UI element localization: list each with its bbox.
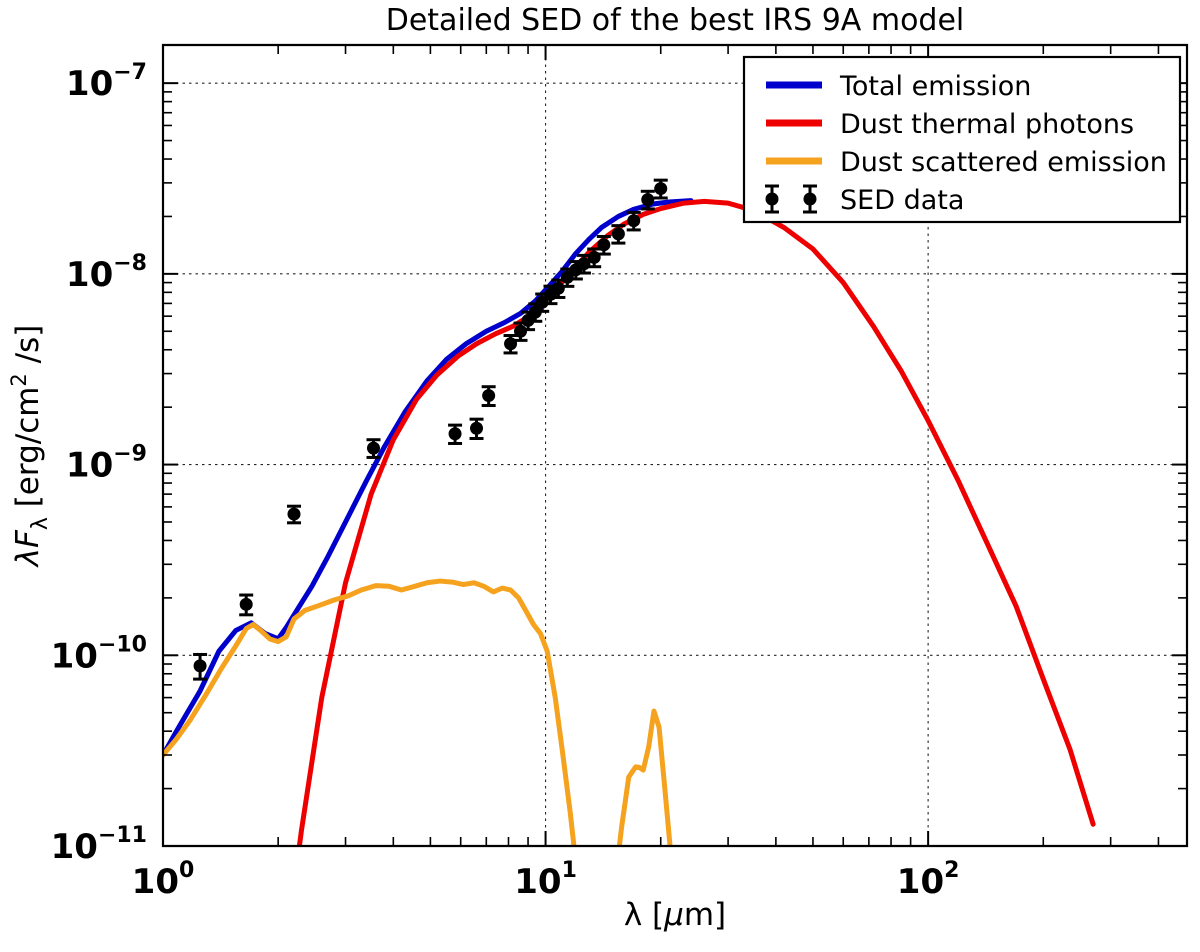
data-marker [367, 442, 380, 455]
ytick-label-1: 10−10 [51, 632, 147, 676]
data-marker [627, 214, 640, 227]
data-marker [641, 193, 654, 206]
data-marker [514, 325, 527, 338]
data-marker [552, 282, 565, 295]
sed-data-point [611, 226, 625, 243]
sed-data-point [482, 387, 496, 406]
legend-label: Total emission [839, 71, 1031, 102]
ytick-label-4: 10−7 [66, 60, 147, 104]
ytick-label-3: 10−8 [66, 251, 147, 295]
sed-data-point [504, 336, 518, 353]
curves-group [163, 201, 1093, 952]
sed-data-point [470, 419, 484, 438]
series-curve-dust-scattered-emission [163, 581, 843, 952]
data-marker [470, 422, 483, 435]
legend-label: Dust scattered emission [840, 147, 1167, 178]
sed-data-point [654, 180, 668, 198]
ytick-label-2: 10−9 [66, 442, 147, 486]
series-curve-total-emission [163, 201, 691, 755]
legend-label: SED data [840, 185, 964, 216]
data-marker [654, 182, 667, 195]
chart-title: Detailed SED of the best IRS 9A model [386, 3, 965, 38]
x-axis-label: λ [μm] [624, 897, 726, 933]
sed-data-points [193, 180, 668, 679]
sed-data-point [287, 506, 301, 523]
sed-data-point [448, 425, 462, 443]
data-marker [597, 238, 610, 251]
data-marker [612, 227, 625, 240]
legend-label: Dust thermal photons [840, 109, 1134, 140]
series-curve-dust-thermal-photons [274, 201, 1093, 952]
y-axis-label: λFλ [erg/cm2 /s] [7, 325, 53, 569]
sed-chart-svg: 10010110210−1110−1010−910−810−7Detailed … [0, 0, 1200, 952]
xtick-label-0: 100 [132, 858, 195, 902]
sed-data-point [597, 237, 611, 255]
sed-figure: 10010110210−1110−1010−910−810−7Detailed … [0, 0, 1200, 952]
xtick-label-1: 101 [514, 858, 577, 902]
data-marker [194, 659, 207, 672]
sed-data-point [239, 595, 253, 615]
legend-marker-0 [766, 193, 779, 206]
xtick-label-2: 102 [897, 858, 960, 902]
data-marker [240, 598, 253, 611]
legend-marker-1 [804, 193, 817, 206]
ytick-label-0: 10−11 [51, 823, 147, 867]
data-marker [449, 427, 462, 440]
legend: Total emissionDust thermal photonsDust s… [744, 57, 1180, 222]
data-marker [287, 508, 300, 521]
data-marker [482, 389, 495, 402]
